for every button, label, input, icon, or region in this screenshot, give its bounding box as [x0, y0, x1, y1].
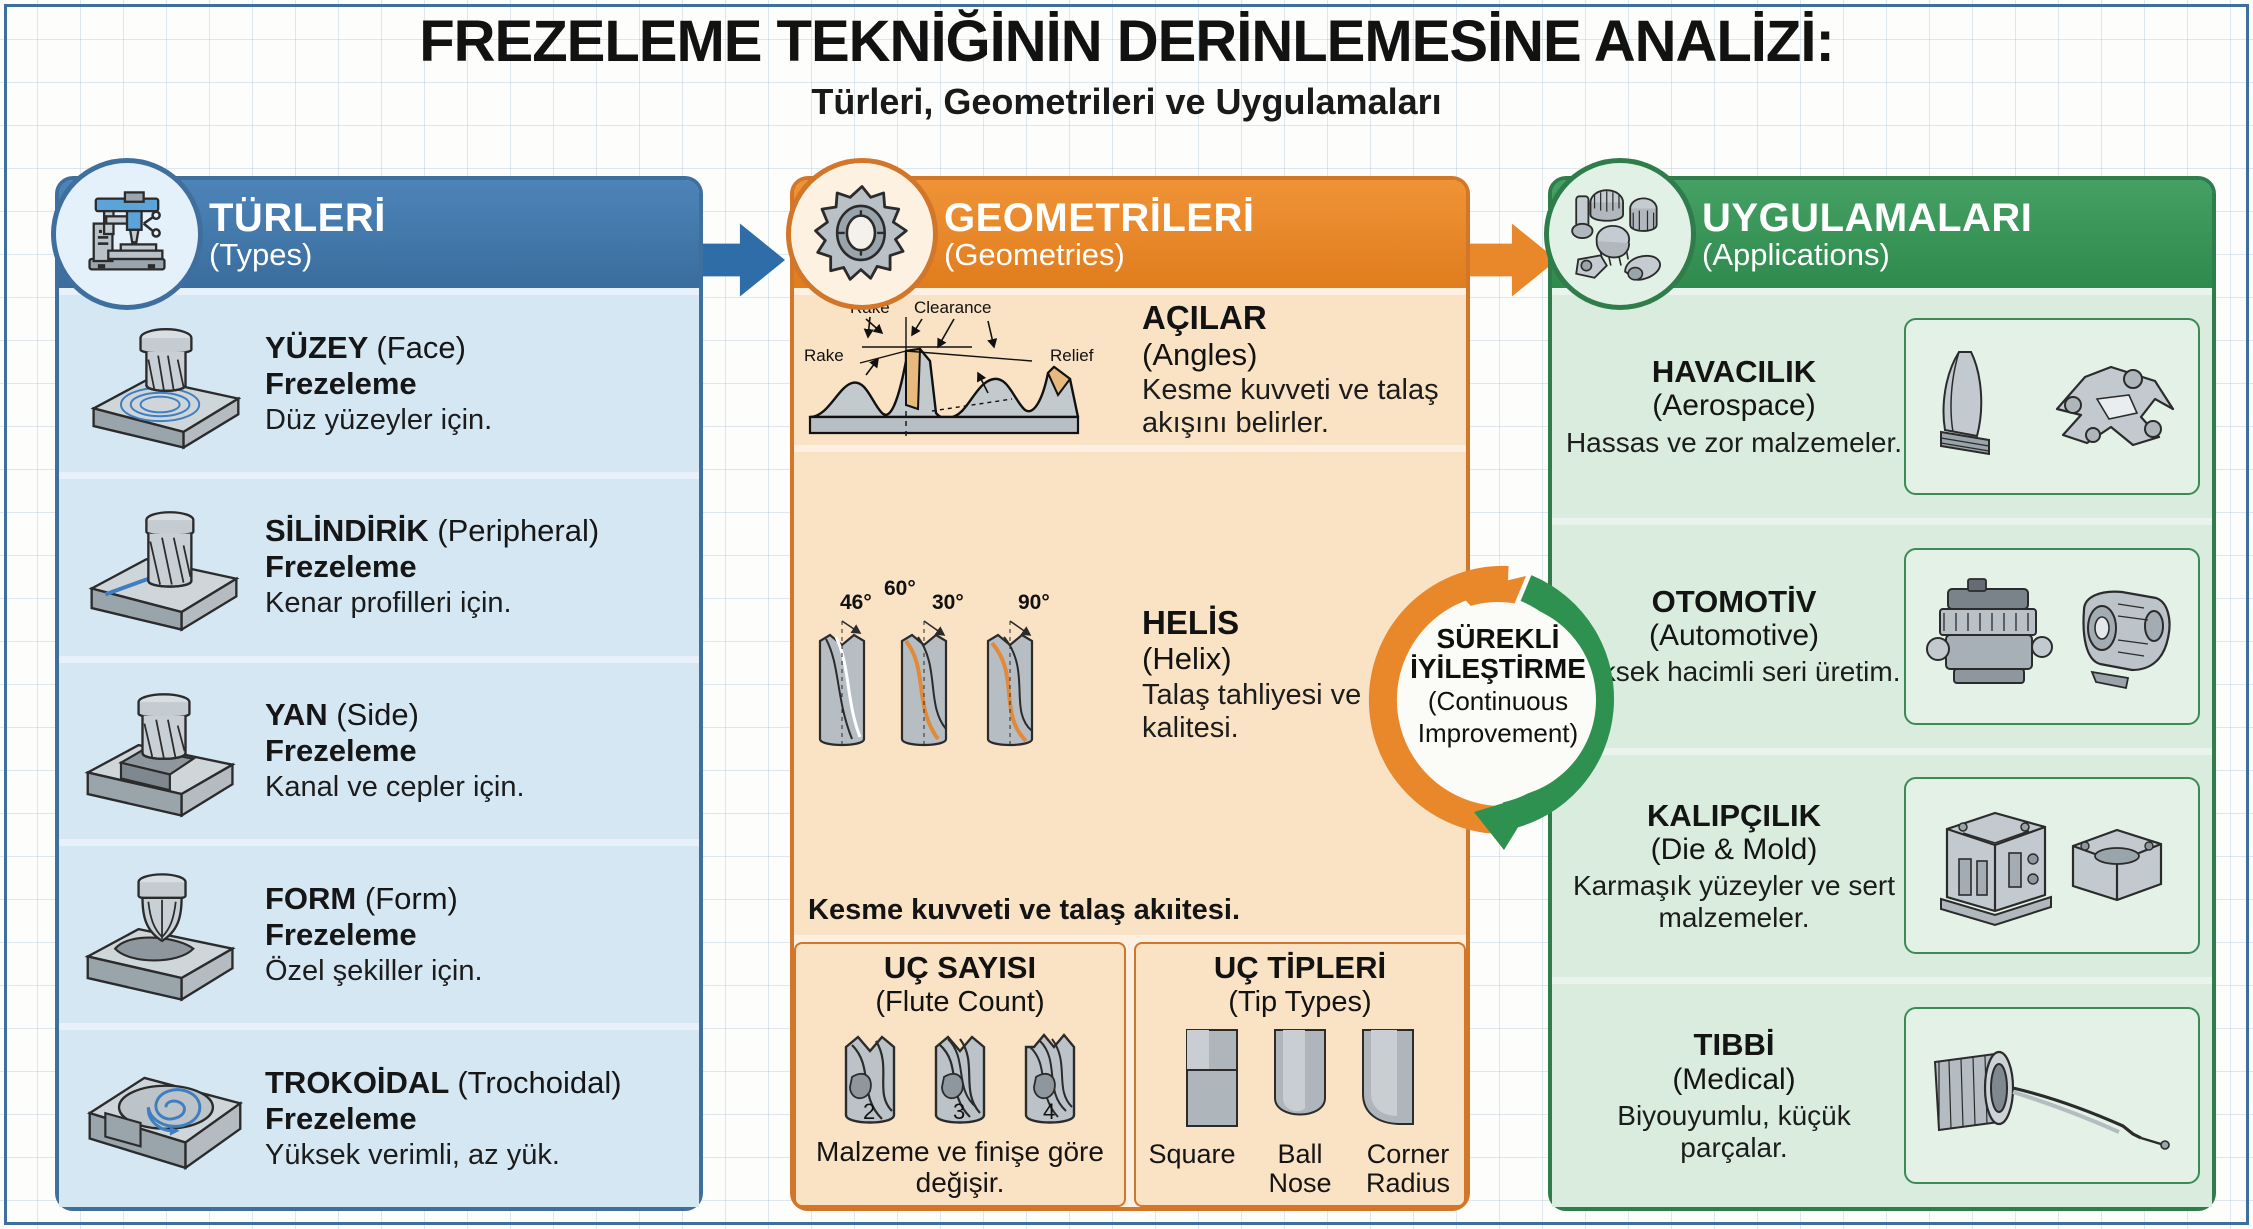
rake-clearance-relief-diagram: Rake Clearance Rake Relief: [802, 299, 1132, 441]
item-subtitle: Frezeleme: [265, 733, 689, 769]
ci-line2: İYİLEŞTİRME: [1400, 654, 1596, 684]
gear-cutter-icon: [786, 158, 938, 310]
flute-count-3: 3: [953, 1099, 965, 1124]
app-title-en: (Aerospace): [1564, 389, 1904, 423]
item-description: Kenar profilleri için.: [265, 587, 689, 621]
item-title: TROKOİDAL: [265, 1065, 449, 1100]
item-title: YAN: [265, 697, 328, 732]
item-description: Kanal ve cepler için.: [265, 771, 689, 805]
geometry-angles-row[interactable]: Rake Clearance Rake Relief: [794, 295, 1466, 445]
mold-die-icon: [1904, 777, 2200, 954]
types-header: TÜRLERİ (Types): [59, 180, 699, 288]
flute-count-caption: Malzeme ve finişe göre değişir.: [798, 1137, 1122, 1199]
face-milling-icon: [69, 313, 259, 453]
label-relief: Relief: [1050, 346, 1094, 365]
helix-angle-46: 46°: [840, 591, 872, 614]
geometries-header-title: GEOMETRİLERİ: [944, 198, 1254, 239]
engine-gearbox-icon: [1904, 548, 2200, 725]
app-description: Hassas ve zor malzemeler.: [1564, 427, 1904, 459]
tip-types-title: UÇ TİPLERİ: [1214, 950, 1386, 986]
tip-label-corner-radius: CornerRadius: [1355, 1140, 1462, 1199]
angles-title: AÇILAR: [1142, 299, 1458, 337]
applications-list: HAVACILIK (Aerospace) Hassas ve zor malz…: [1552, 288, 2212, 1207]
label-clearance: Clearance: [914, 299, 992, 317]
item-subtitle: Frezeleme: [265, 549, 689, 585]
flute-count-card[interactable]: UÇ SAYISI (Flute Count) 2 3 4 Malzeme ve…: [794, 942, 1126, 1207]
types-list: YÜZEY (Face) Frezeleme Düz yüzeyler için…: [59, 288, 699, 1207]
app-title-en: (Medical): [1564, 1063, 1904, 1097]
list-item[interactable]: TROKOİDAL (Trochoidal) Frezeleme Yüksek …: [59, 1030, 699, 1207]
angles-title-en: (Angles): [1142, 337, 1458, 372]
form-milling-icon: [69, 865, 259, 1005]
column-applications: UYGULAMALARI (Applications) HAVACILIK (A…: [1548, 176, 2216, 1211]
helix-angle-90: 90°: [1018, 591, 1050, 614]
helix-angle-30: 30°: [932, 591, 964, 614]
label-rake-left: Rake: [804, 346, 844, 365]
machined-parts-icon: [1544, 158, 1696, 310]
app-description: Karmaşık yüzeyler ve sert malzemeler.: [1564, 870, 1904, 934]
continuous-improvement-cycle: SÜREKLİ İYİLEŞTİRME (Continuous Improvem…: [1348, 540, 1648, 860]
corner-radius-tip-icon: [1349, 1024, 1427, 1136]
item-title-en: (Side): [336, 697, 419, 732]
tip-types-title-en: (Tip Types): [1228, 986, 1371, 1019]
page-title: FREZELEME TEKNİĞİNİN DERİNLEMESİNE ANALİ…: [0, 12, 2253, 73]
helix-angle-diagram: 46° 60° 30° 90°: [802, 579, 1132, 769]
title-block: FREZELEME TEKNİĞİNİN DERİNLEMESİNE ANALİ…: [0, 12, 2253, 123]
item-description: Yüksek verimli, az yük.: [265, 1139, 689, 1173]
list-item[interactable]: SİLİNDİRİK (Peripheral) Frezeleme Kenar …: [59, 479, 699, 656]
item-subtitle: Frezeleme: [265, 1101, 689, 1137]
item-description: Düz yüzeyler için.: [265, 404, 689, 438]
infographic-page: FREZELEME TEKNİĞİNİN DERİNLEMESİNE ANALİ…: [0, 0, 2253, 1229]
list-item[interactable]: OTOMOTİV (Automotive) Yüksek hacimli ser…: [1552, 525, 2212, 748]
column-types: TÜRLERİ (Types): [55, 176, 703, 1211]
angles-description: Kesme kuvveti ve talaş akışını belirler.: [1142, 374, 1458, 440]
medical-implant-icon: [1904, 1007, 2200, 1184]
list-item[interactable]: YÜZEY (Face) Frezeleme Düz yüzeyler için…: [59, 295, 699, 472]
item-subtitle: Frezeleme: [265, 366, 689, 402]
geometries-header: GEOMETRİLERİ (Geometries): [794, 180, 1466, 288]
item-title: SİLİNDİRİK: [265, 513, 429, 548]
app-description: Biyouyumlu, küçük parçalar.: [1564, 1100, 1904, 1164]
app-title: TIBBİ: [1564, 1027, 1904, 1062]
list-item[interactable]: YAN (Side) Frezeleme Kanal ve cepler içi…: [59, 663, 699, 840]
flute-count-2: 2: [863, 1099, 875, 1124]
geometry-bottom-cards: UÇ SAYISI (Flute Count) 2 3 4 Malzeme ve…: [794, 942, 1466, 1207]
item-title-en: (Face): [376, 330, 466, 365]
ci-line3: (Continuous: [1400, 687, 1596, 715]
page-subtitle: Türleri, Geometrileri ve Uygulamaları: [0, 81, 2253, 123]
flute-count-illustrations: 2 3 4: [830, 1019, 1090, 1137]
applications-header-subtitle: (Applications): [1702, 239, 2032, 271]
item-subtitle: Frezeleme: [265, 917, 689, 953]
applications-header-title: UYGULAMALARI: [1702, 198, 2032, 239]
turbine-blade-bracket-icon: [1904, 318, 2200, 495]
tip-label-ball-nose: BallNose: [1247, 1140, 1354, 1199]
peripheral-milling-icon: [69, 497, 259, 637]
item-title-en: (Form): [365, 881, 458, 916]
list-item[interactable]: FORM (Form) Frezeleme Özel şekiller için…: [59, 846, 699, 1023]
flute-count-title-en: (Flute Count): [875, 986, 1044, 1019]
list-item[interactable]: HAVACILIK (Aerospace) Hassas ve zor malz…: [1552, 295, 2212, 518]
item-description: Özel şekiller için.: [265, 955, 689, 989]
tip-types-card[interactable]: UÇ TİPLERİ (Tip Types) Square BallNose C…: [1134, 942, 1466, 1207]
trochoidal-milling-icon: [69, 1051, 259, 1187]
milling-machine-icon: [51, 158, 203, 310]
item-title-en: (Trochoidal): [457, 1065, 621, 1100]
side-milling-icon: [69, 681, 259, 821]
types-header-title: TÜRLERİ: [209, 198, 386, 239]
ball-nose-tip-icon: [1261, 1024, 1339, 1136]
app-title: HAVACILIK: [1564, 354, 1904, 389]
item-title: FORM: [265, 881, 356, 916]
helix-caption: Kesme kuvveti ve talaş akıitesi.: [802, 892, 1458, 931]
item-title: YÜZEY: [265, 330, 368, 365]
tip-types-illustrations: [1173, 1019, 1427, 1139]
flute-count-title: UÇ SAYISI: [884, 950, 1036, 986]
ci-line1: SÜREKLİ: [1400, 624, 1596, 654]
arrow-types-to-geometries: [690, 212, 786, 308]
square-tip-icon: [1173, 1024, 1251, 1136]
tip-label-square: Square: [1139, 1140, 1246, 1199]
list-item[interactable]: TIBBİ (Medical) Biyouyumlu, küçük parçal…: [1552, 984, 2212, 1207]
applications-header: UYGULAMALARI (Applications): [1552, 180, 2212, 288]
helix-angle-60: 60°: [884, 579, 916, 600]
list-item[interactable]: KALIPÇILIK (Die & Mold) Karmaşık yüzeyle…: [1552, 755, 2212, 978]
ci-line4: Improvement): [1400, 719, 1596, 747]
flute-count-4: 4: [1043, 1099, 1055, 1124]
item-title-en: (Peripheral): [437, 513, 599, 548]
types-header-subtitle: (Types): [209, 239, 386, 271]
geometries-header-subtitle: (Geometries): [944, 239, 1254, 271]
